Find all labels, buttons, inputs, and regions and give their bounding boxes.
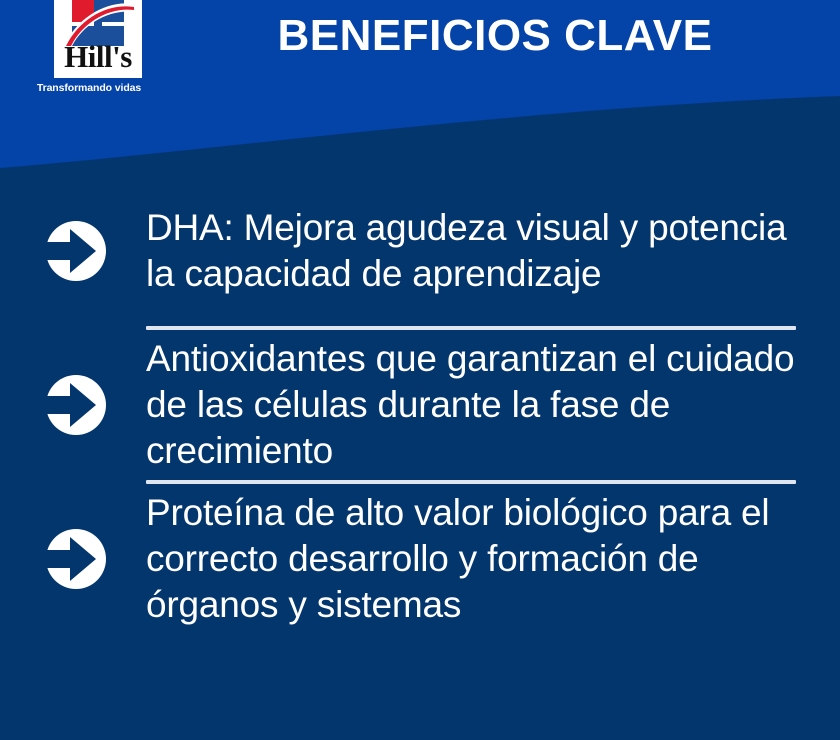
benefit-text: DHA: Mejora agudeza visual y potencia la…: [146, 205, 840, 297]
page-title: BENEFICIOS CLAVE: [150, 10, 840, 62]
list-item: Antioxidantes que garantizan el cuidado …: [0, 330, 840, 480]
benefit-icon-cell: [0, 366, 146, 444]
arrow-right-circle-icon: [34, 366, 112, 444]
benefit-text: Proteína de alto valor biológico para el…: [146, 490, 840, 628]
arrow-right-circle-icon: [34, 212, 112, 290]
brand-block: Hill's Transformando vidas: [52, 0, 144, 94]
arrow-right-circle-icon: [34, 520, 112, 598]
benefits-list: DHA: Mejora agudeza visual y potencia la…: [0, 176, 840, 634]
benefit-icon-cell: [0, 520, 146, 598]
list-item: Proteína de alto valor biológico para el…: [0, 484, 840, 634]
hills-wordmark: Hill's: [54, 40, 142, 74]
benefit-text: Antioxidantes que garantizan el cuidado …: [146, 336, 840, 474]
list-item: DHA: Mejora agudeza visual y potencia la…: [0, 176, 840, 326]
brand-tagline: Transformando vidas: [34, 82, 144, 94]
benefit-icon-cell: [0, 212, 146, 290]
benefits-poster: Hill's Transformando vidas BENEFICIOS CL…: [0, 0, 840, 740]
hills-logo: Hill's: [54, 0, 142, 78]
